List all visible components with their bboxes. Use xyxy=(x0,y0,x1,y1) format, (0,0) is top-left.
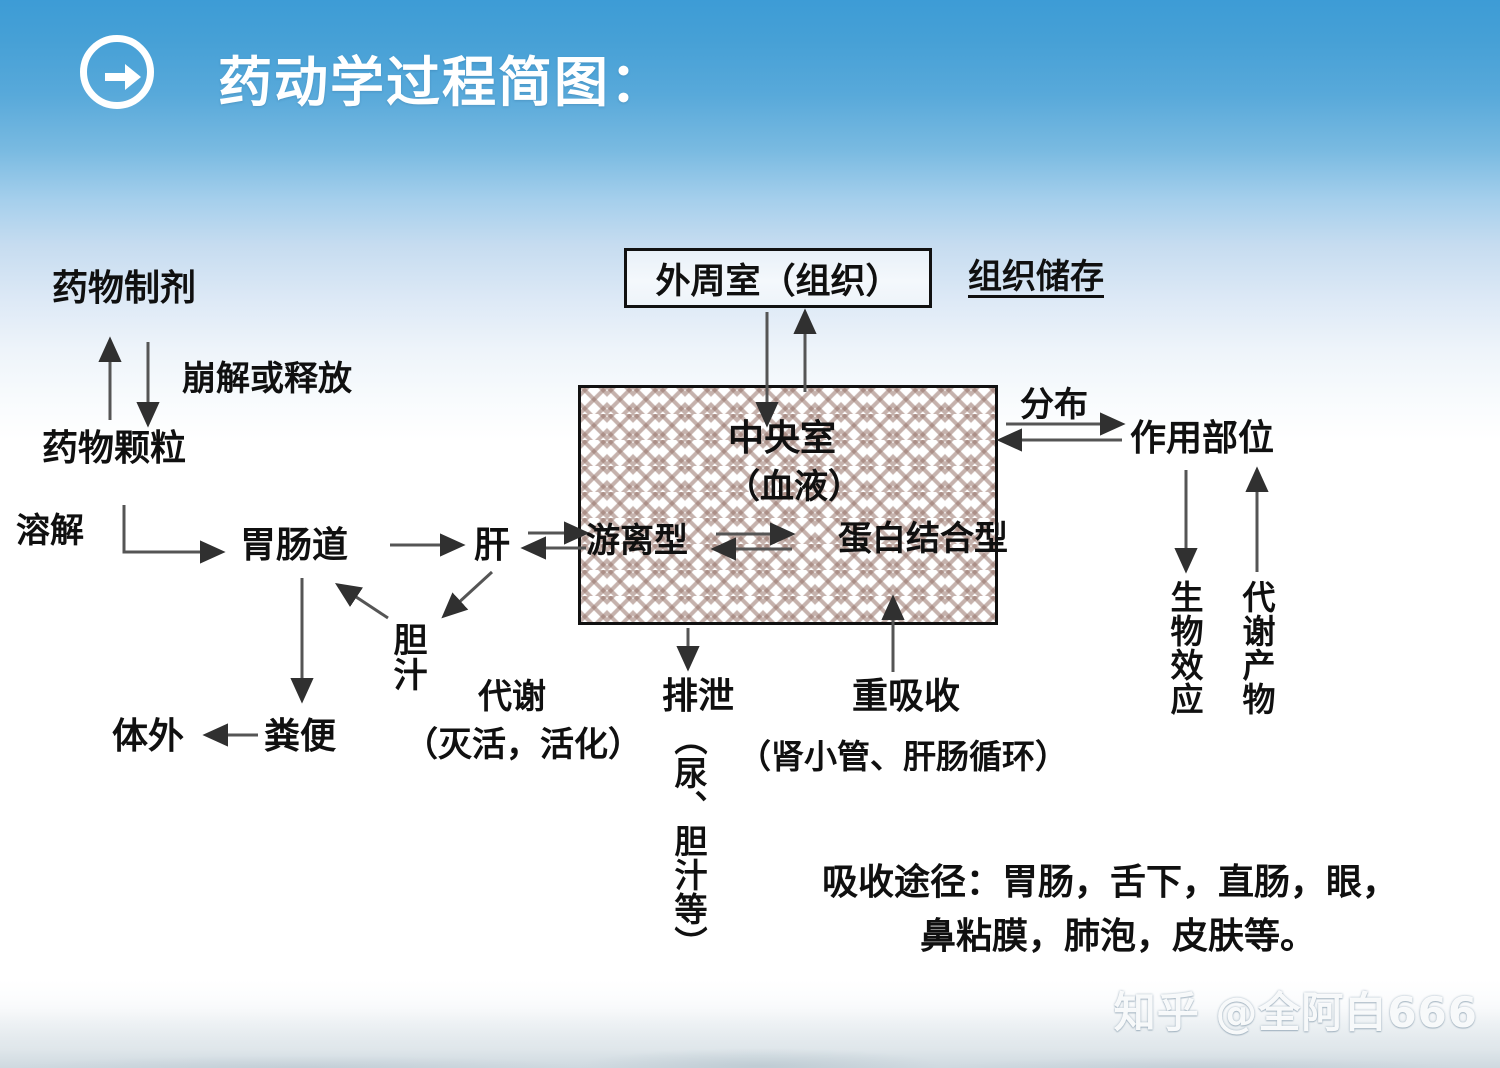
watermark: 知乎 @全阿白666 xyxy=(1114,979,1478,1040)
node-action-site: 作用部位 xyxy=(1130,418,1274,460)
arrow-liver-to-bile xyxy=(444,572,492,616)
node-drug-particles: 药物颗粒 xyxy=(42,428,186,470)
note-absorption-routes-line1: 吸收途径：胃肠，舌下，直肠，眼， xyxy=(822,862,1398,904)
node-reabsorption-paren: （肾小管、肝肠循环） xyxy=(738,738,1068,776)
node-distribution: 分布 xyxy=(1020,386,1088,425)
node-dissolution: 溶解 xyxy=(16,512,84,551)
arrow-dissolution-to-gi xyxy=(124,505,222,552)
page-title: 药动学过程简图： xyxy=(218,38,666,117)
node-disintegration-release: 崩解或释放 xyxy=(182,360,352,399)
node-central-compartment: 中央室 xyxy=(728,418,836,460)
arrow-bile-to-gi xyxy=(338,585,388,618)
node-drug-preparation: 药物制剂 xyxy=(52,268,196,310)
node-tissue-storage: 组织储存 xyxy=(968,258,1104,297)
node-outside-body: 体外 xyxy=(112,716,184,758)
node-feces: 粪便 xyxy=(264,716,336,758)
slide-page: 药动学过程简图： 外周室（组织） xyxy=(0,0,1500,1068)
node-metabolism-paren: （灭活，活化） xyxy=(404,726,642,765)
peripheral-compartment-label: 外周室（组织） xyxy=(627,251,929,305)
node-gi-tract: 胃肠道 xyxy=(240,525,348,567)
slide-header: 药动学过程简图： xyxy=(0,0,1500,150)
node-reabsorption: 重吸收 xyxy=(852,676,960,718)
node-metabolite: 代谢产物 xyxy=(1240,580,1273,750)
node-central-compartment-blood: （血液） xyxy=(726,468,862,507)
node-liver: 肝 xyxy=(474,525,510,567)
node-metabolism: 代谢 xyxy=(478,678,546,717)
note-absorption-routes-line2: 鼻粘膜，肺泡，皮肤等。 xyxy=(920,916,1316,958)
node-bile: 胆汁 xyxy=(390,622,424,722)
node-free-form: 游离型 xyxy=(586,522,688,561)
node-biological-effect: 生物效应 xyxy=(1168,580,1201,750)
circled-right-arrow-icon xyxy=(80,35,154,109)
node-protein-bound-form: 蛋白结合型 xyxy=(838,522,1008,558)
peripheral-compartment-box: 外周室（组织） xyxy=(624,248,932,308)
node-excretion: 排泄 xyxy=(662,676,734,718)
node-excretion-paren: （尿、胆汁等） xyxy=(672,722,705,972)
